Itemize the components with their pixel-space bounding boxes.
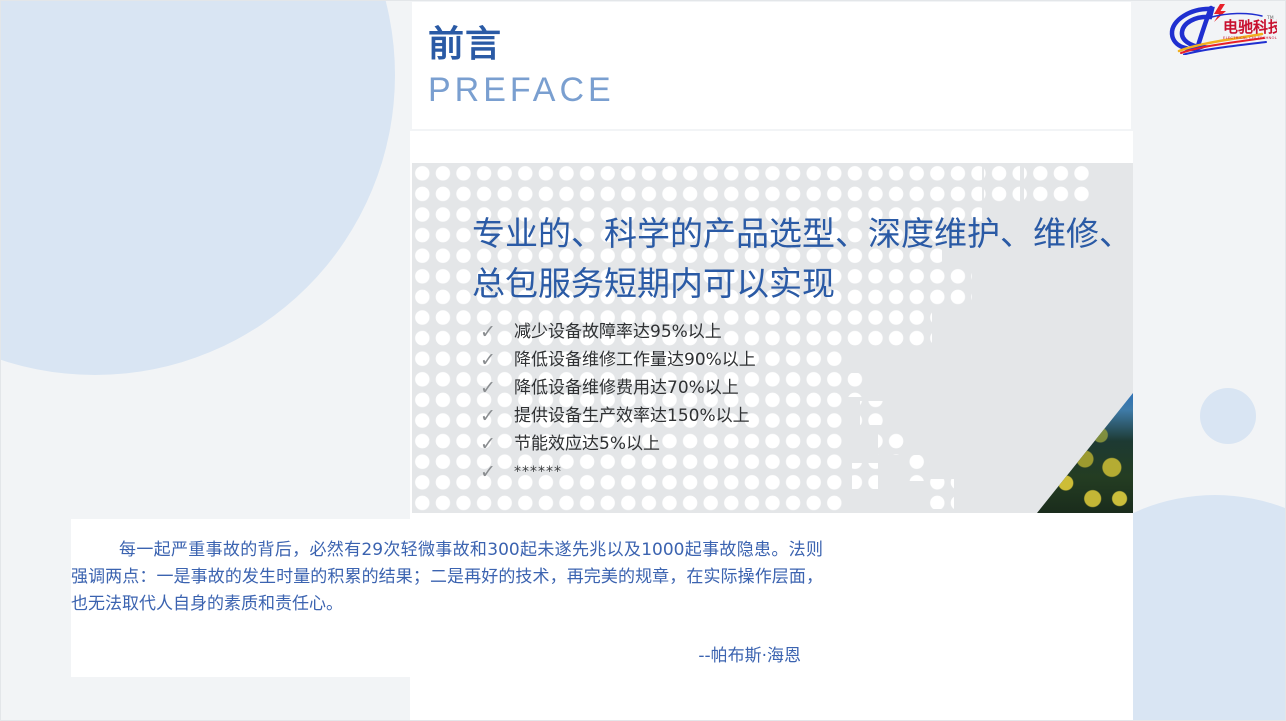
check-icon: ✓ [480,458,514,486]
logo-trademark: TM [1266,15,1274,21]
page-title: 前言 PREFACE [428,24,615,112]
quote-attribution: --帕布斯·海恩 [698,641,801,666]
list-item: ✓ 降低设备维修工作量达90%以上 [480,346,756,374]
list-item-label: 提供设备生产效率达150%以上 [514,402,750,430]
list-item: ✓ 降低设备维修费用达70%以上 [480,374,756,402]
company-logo-icon: 电驰科技 ELECTRICAL CHI TECHNOLOGY TM [1164,3,1277,55]
check-icon: ✓ [480,346,514,374]
list-item-label: 减少设备故障率达95%以上 [514,318,722,346]
benefits-checklist: ✓ 减少设备故障率达95%以上 ✓ 降低设备维修工作量达90%以上 ✓ 降低设备… [480,318,756,486]
check-icon: ✓ [480,318,514,346]
photo-corner [1037,393,1133,513]
list-item-label: 节能效应达5%以上 [514,430,660,458]
quote-box: 每一起严重事故的背后，必然有29次轻微事故和300起未遂先兆以及1000起事故隐… [71,519,823,677]
list-item: ✓ 节能效应达5%以上 [480,430,756,458]
dotted-map-box: 专业的、科学的产品选型、深度维护、维修、 总包服务短期内可以实现 ✓ 减少设备故… [412,163,1133,513]
logo-brand-en: ELECTRICAL CHI TECHNOLOGY [1223,36,1277,40]
mapbox-heading: 专业的、科学的产品选型、深度维护、维修、 总包服务短期内可以实现 [472,209,1133,309]
check-icon: ✓ [480,430,514,458]
list-item: ✓ 减少设备故障率达95%以上 [480,318,756,346]
list-item-label: ****** [514,458,562,486]
list-item-label: 降低设备维修费用达70%以上 [514,374,739,402]
check-icon: ✓ [480,402,514,430]
decor-circle-small-left [60,282,138,360]
quote-text: 每一起严重事故的背后，必然有29次轻微事故和300起未遂先兆以及1000起事故隐… [71,537,823,618]
mapbox-heading-line2: 总包服务短期内可以实现 [472,259,1133,309]
list-item-label: 降低设备维修工作量达90%以上 [514,346,756,374]
forest-photo-image [1037,393,1133,513]
decor-circle-small-right [1200,388,1256,444]
page-title-en: PREFACE [428,68,615,112]
check-icon: ✓ [480,374,514,402]
list-item: ✓ ****** [480,458,756,486]
company-logo: 电驰科技 ELECTRICAL CHI TECHNOLOGY TM [1164,3,1277,55]
list-item: ✓ 提供设备生产效率达150%以上 [480,402,756,430]
mapbox-heading-line1: 专业的、科学的产品选型、深度维护、维修、 [472,214,1132,253]
page-title-cn: 前言 [428,24,615,66]
slide-preface: 前言 PREFACE 电驰科技 ELECTRICAL CHI TECHNOLOG… [0,0,1286,721]
